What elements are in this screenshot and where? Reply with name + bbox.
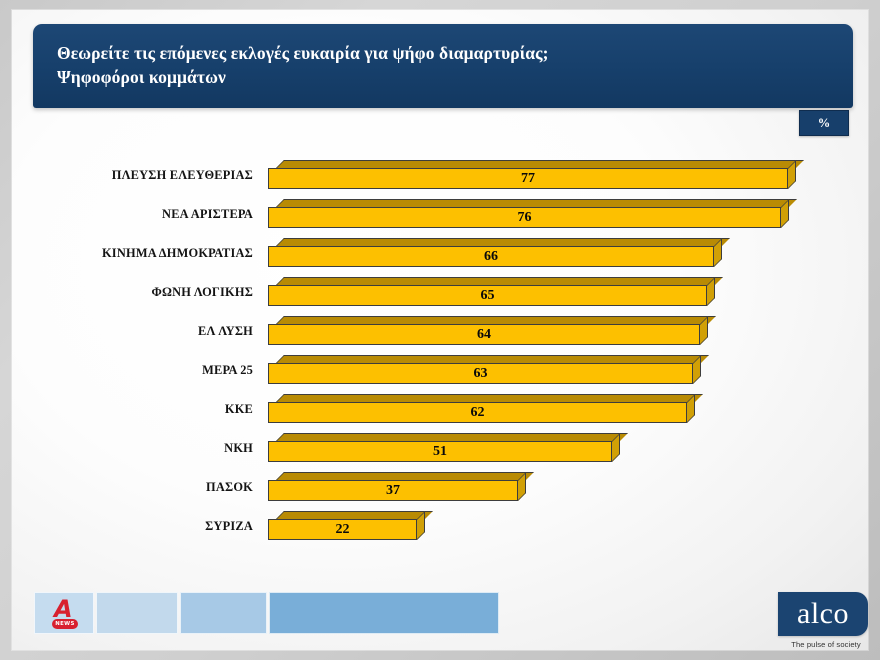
bar-top-face <box>276 277 723 285</box>
bar: 66 <box>268 238 723 270</box>
bar-front-face <box>268 168 788 189</box>
bar-front-face <box>268 363 693 384</box>
alco-tagline: The pulse of society <box>778 640 874 649</box>
bar-top-face <box>276 160 804 168</box>
bar-top-face <box>276 394 703 402</box>
bar-front-face <box>268 285 707 306</box>
chart-row: ΠΑΣΟΚ37 <box>12 472 868 504</box>
bar-front-face <box>268 207 781 228</box>
bar-category-label: ΚΚΕ <box>12 402 253 417</box>
bar-front-face <box>268 402 687 423</box>
bar-category-label: ΚΙΝΗΜΑ ΔΗΜΟΚΡΑΤΙΑΣ <box>12 246 253 261</box>
bar-top-face <box>276 355 709 363</box>
chart-row: ΣΥΡΙΖΑ22 <box>12 511 868 543</box>
bar: 65 <box>268 277 716 309</box>
bar: 63 <box>268 355 702 387</box>
chart-row: ΝΕΑ ΑΡΙΣΤΕΡΑ76 <box>12 199 868 231</box>
footer-block-2 <box>96 592 178 634</box>
footer-bar <box>12 588 868 650</box>
alco-wordmark: alco <box>797 599 849 629</box>
bar: 77 <box>268 160 797 192</box>
chart-row: ΦΩΝΗ ΛΟΓΙΚΗΣ65 <box>12 277 868 309</box>
chart-row: ΚΚΕ62 <box>12 394 868 426</box>
bar: 51 <box>268 433 621 465</box>
bar-category-label: ΠΛΕΥΣΗ ΕΛΕΥΘΕΡΙΑΣ <box>12 168 253 183</box>
alco-logo: alco <box>778 592 868 636</box>
chart-row: ΕΛ ΛΥΣΗ64 <box>12 316 868 348</box>
horizontal-bar-chart: ΠΛΕΥΣΗ ΕΛΕΥΘΕΡΙΑΣ77ΝΕΑ ΑΡΙΣΤΕΡΑ76ΚΙΝΗΜΑ … <box>12 160 868 570</box>
bar-category-label: ΝΚΗ <box>12 441 253 456</box>
bar-front-face <box>268 324 700 345</box>
bar-category-label: ΝΕΑ ΑΡΙΣΤΕΡΑ <box>12 207 253 222</box>
alpha-news-logo: A NEWS <box>52 598 80 632</box>
bar-front-face <box>268 441 612 462</box>
bar-front-face <box>268 480 518 501</box>
bar-category-label: ΕΛ ΛΥΣΗ <box>12 324 253 339</box>
bar: 76 <box>268 199 790 231</box>
percent-unit-badge: % <box>799 110 849 136</box>
title-banner: Θεωρείτε τις επόμενες εκλογές ευκαιρία γ… <box>33 24 853 108</box>
bar-category-label: ΣΥΡΙΖΑ <box>12 519 253 534</box>
footer-block-3 <box>180 592 267 634</box>
chart-row: ΠΛΕΥΣΗ ΕΛΕΥΘΕΡΙΑΣ77 <box>12 160 868 192</box>
bar: 62 <box>268 394 696 426</box>
bar: 37 <box>268 472 527 504</box>
slide-canvas: Θεωρείτε τις επόμενες εκλογές ευκαιρία γ… <box>12 10 868 650</box>
chart-row: ΚΙΝΗΜΑ ΔΗΜΟΚΡΑΤΙΑΣ66 <box>12 238 868 270</box>
chart-row: ΝΚΗ51 <box>12 433 868 465</box>
bar-top-face <box>276 433 628 441</box>
alpha-news-badge-label: NEWS <box>52 619 78 629</box>
page-title: Θεωρείτε τις επόμενες εκλογές ευκαιρία γ… <box>57 42 837 89</box>
bar-category-label: ΠΑΣΟΚ <box>12 480 253 495</box>
bar-top-face <box>276 316 716 324</box>
bar-top-face <box>276 199 797 207</box>
bar-top-face <box>276 238 730 246</box>
bar-category-label: ΦΩΝΗ ΛΟΓΙΚΗΣ <box>12 285 253 300</box>
bar-top-face <box>276 472 534 480</box>
bar-category-label: ΜΕΡΑ 25 <box>12 363 253 378</box>
bar-front-face <box>268 519 417 540</box>
bar-front-face <box>268 246 714 267</box>
percent-unit-label: % <box>818 116 831 131</box>
bar: 64 <box>268 316 709 348</box>
bar-top-face <box>276 511 433 519</box>
bar: 22 <box>268 511 426 543</box>
chart-row: ΜΕΡΑ 2563 <box>12 355 868 387</box>
alpha-a-letter-icon: A <box>54 598 73 620</box>
footer-block-4 <box>269 592 499 634</box>
